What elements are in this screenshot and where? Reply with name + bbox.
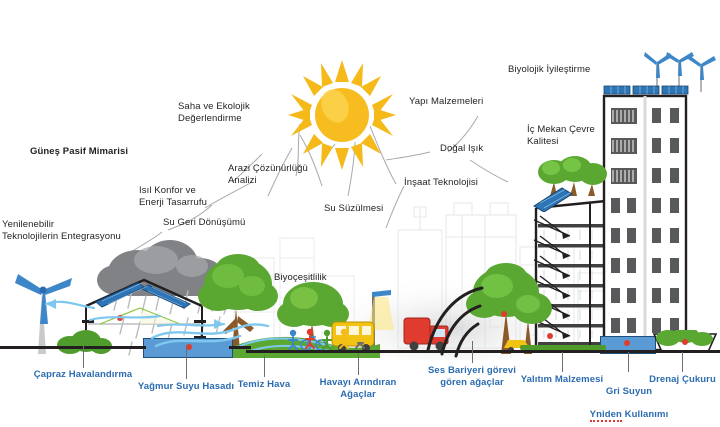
label-su-suzulmesi: Su Süzülmesi [324,203,383,215]
ground-line-right [520,350,720,353]
leader-yalitim-malzemesi [562,352,563,372]
highrise-building [600,88,690,352]
tree-left-large [196,252,282,352]
label-gunes-pasif-mimarisi: Güneş Pasif Mimarisi [30,146,128,158]
label-ic-mekan-cevre-kalitesi: İç Mekan Çevre Kalitesi [527,124,595,147]
leader-yagmur-suyu-hasadi [186,345,187,379]
city-bus [330,318,378,352]
ground-line-basin-right [229,346,251,349]
bicycle [300,332,328,352]
label-havayi-arindiran-agaclar: Havayı Arındıran Ağaçlar [314,377,402,400]
leader-ses-bariyeri-agaclar [472,341,473,363]
label-saha-ve-ekolojik: Saha ve Ekolojik Değerlendirme [178,101,250,124]
leader-gri-suyun-yeniden-kullanimi [628,352,629,372]
shrub-left [56,330,112,354]
leader-havayi-arindiran-agaclar [358,353,359,375]
label-yapi-malzemeleri: Yapı Malzemeleri [409,96,483,108]
road-surface-center [246,350,522,353]
solar-panels-highrise-roof [600,82,692,98]
label-yenilenebilir-teknolojiler: Yenilenebilir Teknolojilerin Entegrasyon… [2,219,121,242]
sun-icon [288,60,396,175]
label-ses-bariyeri-agaclar: Ses Bariyeri görevi gören ağaçlar [424,365,520,388]
label-insaat-teknolojisi: İnşaat Teknolojisi [404,177,478,189]
label-biyolojik-iyilestirme: Biyolojik İyileştirme [508,64,590,76]
leader-temiz-hava [264,355,265,377]
greywater-line2-rest: Kullanımı [622,409,668,420]
label-arazi-cozunurlugu: Arazi Çözünürlüğü Analizi [228,163,308,186]
solar-panel-midrise [532,186,574,212]
label-yagmur-suyu-hasadi: Yağmur Suyu Hasadı [133,381,239,393]
red-truck [400,312,452,352]
label-capraz-havalandirma: Çapraz Havalandırma [28,369,138,381]
greywater-misspelled-word: Yniden [590,409,622,422]
label-isil-konfor: Isıl Konfor ve Enerji Tasarrufu [139,185,207,208]
leader-drenaj-cukuru [682,352,683,372]
ground-line-left [0,346,146,349]
label-drenaj-cukuru: Drenaj Çukuru [645,374,720,386]
leader-capraz-havalandirma [83,346,84,368]
infographic-canvas: Güneş Pasif Mimarisi Yenilenebilir Tekno… [0,0,720,427]
label-dogal-isik: Doğal Işık [440,143,483,155]
label-biyocesitlilik: Biyoçeşitlilik [274,272,327,284]
marker-dot-greywater [624,340,630,346]
greywater-line1: Gri Suyun [606,386,652,397]
label-temiz-hava: Temiz Hava [232,379,296,391]
label-su-geri-donusumu: Su Geri Dönüşümü [163,217,245,229]
